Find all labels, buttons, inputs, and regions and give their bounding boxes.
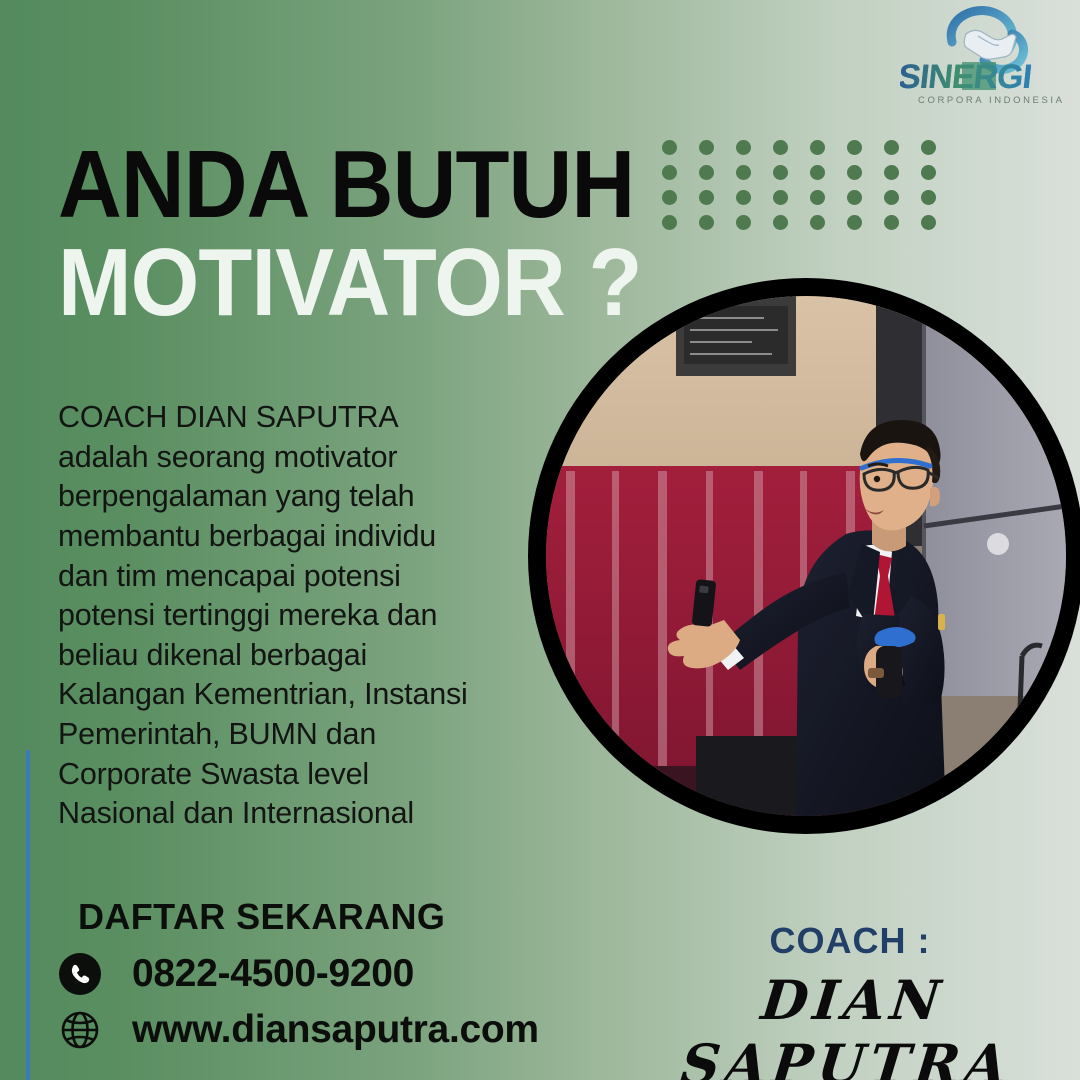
cta-title: DAFTAR SEKARANG	[58, 896, 578, 938]
cta-block: DAFTAR SEKARANG 0822-4500-9200	[58, 896, 578, 1052]
coach-name: DIAN SAPUTRA	[613, 968, 1080, 1080]
phone-icon	[58, 952, 102, 996]
svg-text:CORPORA INDONESIA: CORPORA INDONESIA	[918, 95, 1065, 106]
phone-number[interactable]: 0822-4500-9200	[132, 952, 414, 996]
phone-row[interactable]: 0822-4500-9200	[58, 952, 578, 996]
speaker-photo-circle	[528, 278, 1080, 834]
dot-grid-decoration	[662, 140, 958, 240]
headline: ANDA BUTUH MOTIVATOR ?	[58, 138, 618, 330]
globe-icon	[58, 1008, 102, 1052]
website-url[interactable]: www.diansaputra.com	[132, 1008, 539, 1052]
coach-label: COACH :	[620, 920, 1080, 962]
poster-canvas: SINERGI SINERGI SINERGI CORPORA INDONESI…	[0, 0, 1080, 1080]
left-accent-line	[26, 750, 30, 1080]
website-row[interactable]: www.diansaputra.com	[58, 1008, 578, 1052]
svg-text:SINERGI: SINERGI	[900, 58, 1033, 96]
headline-line-1: ANDA BUTUH	[58, 138, 573, 232]
headline-line-2: MOTIVATOR ?	[58, 236, 573, 330]
sinergi-logo: SINERGI SINERGI SINERGI CORPORA INDONESI…	[900, 4, 1070, 112]
body-paragraph: COACH DIAN SAPUTRA adalah seorang motiva…	[58, 398, 490, 834]
coach-signature-block: COACH : DIAN SAPUTRA	[620, 920, 1080, 1080]
speaker-photo	[546, 296, 1066, 816]
